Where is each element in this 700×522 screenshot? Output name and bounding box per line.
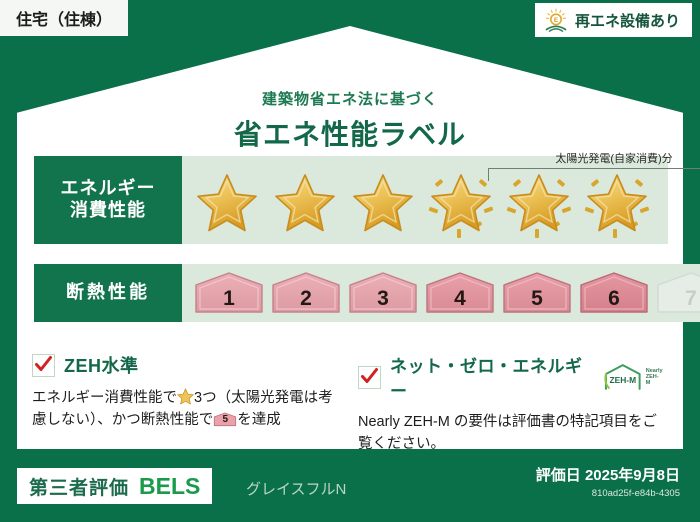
insulation-badge-number: 7	[685, 288, 697, 315]
insulation-badge: 5	[500, 271, 574, 315]
insulation-badge-inline: 5	[213, 411, 237, 428]
insulation-badge-number: 4	[454, 288, 466, 315]
check-icon	[32, 354, 55, 377]
energy-performance-row: エネルギー 消費性能	[34, 156, 668, 244]
zeh-desc-part4: を達成	[237, 412, 281, 428]
third-party-label: 第三者評価	[29, 473, 129, 500]
zeh-standard-header: ZEH水準	[32, 352, 342, 378]
insulation-badge-number: 5	[531, 288, 543, 315]
evaluation-id: 810ad25f-e84b-4305	[536, 488, 680, 499]
evaluation-info: 評価日 2025年9月8日 810ad25f-e84b-4305	[536, 464, 680, 499]
zeh-m-sub-line2: ZEH-M	[646, 374, 659, 386]
star-cell-solar	[422, 163, 500, 243]
star-icon	[274, 172, 336, 234]
zeh-m-logo: ZEH-M Nearly ZEH-M	[602, 363, 663, 391]
net-zero-energy-header: ネット・ゼロ・エネルギー ZEH-M Nearly ZEH-M	[358, 352, 663, 402]
star-icon	[177, 388, 194, 405]
star-cell	[266, 163, 344, 243]
building-type-label: 住宅（住棟）	[16, 6, 112, 30]
zeh-m-sub-line1: Nearly	[646, 368, 663, 374]
label-main-title: 省エネ性能ラベル	[0, 113, 700, 153]
star-cell-solar	[500, 163, 578, 243]
star-icon	[352, 172, 414, 234]
star-rating	[188, 163, 656, 243]
insulation-badge: 4	[423, 271, 497, 315]
insulation-badge-number: 1	[223, 288, 235, 315]
zeh-standard-title: ZEH水準	[64, 352, 139, 378]
energy-performance-label: エネルギー 消費性能	[34, 156, 182, 244]
star-icon	[586, 172, 648, 234]
insulation-badges-area: 1 2 3	[182, 264, 700, 322]
bels-certification-box: 第三者評価 BELS	[17, 468, 212, 504]
insulation-performance-label: 断熱性能	[34, 264, 182, 322]
renewable-energy-label: 再エネ設備あり	[575, 10, 680, 31]
net-zero-energy-title: ネット・ゼロ・エネルギー	[390, 352, 590, 402]
renewable-energy-tag: E 再エネ設備あり	[535, 3, 692, 37]
insulation-badge-number: 6	[608, 288, 620, 315]
zeh-desc-part2: 3つ（太陽光発電	[194, 390, 304, 406]
star-icon	[430, 172, 492, 234]
star-cell	[188, 163, 266, 243]
project-name: グレイスフルN	[246, 478, 346, 499]
check-icon	[358, 366, 381, 389]
insulation-badge: 2	[269, 271, 343, 315]
insulation-badge: 1	[192, 271, 266, 315]
label-subtitle: 建築物省エネ法に基づく	[0, 88, 700, 109]
evaluation-date-label: 評価日	[536, 467, 581, 484]
svg-text:ZEH-M: ZEH-M	[610, 375, 637, 385]
net-zero-energy-description: Nearly ZEH-M の要件は評価書の特記項目をご覧ください。	[358, 411, 663, 456]
evaluation-date-value: 2025年9月8日	[585, 467, 680, 484]
zeh-desc-part1: エネルギー消費性能で	[32, 390, 177, 406]
star-cell-solar	[578, 163, 656, 243]
solar-sun-icon: E	[543, 8, 569, 32]
insulation-badge: 3	[346, 271, 420, 315]
footer-bar: 第三者評価 BELS グレイスフルN 評価日 2025年9月8日 810ad25…	[0, 456, 700, 522]
insulation-grade-scale: 1 2 3	[192, 271, 700, 315]
insulation-badge-inline-number: 5	[213, 412, 237, 428]
bels-logo-text: BELS	[139, 473, 200, 500]
star-icon	[196, 172, 258, 234]
building-type-tag: 住宅（住棟）	[0, 0, 128, 36]
zeh-m-logo-subtext: Nearly ZEH-M	[646, 368, 663, 387]
insulation-badge-number: 2	[300, 288, 312, 315]
svg-text:E: E	[554, 17, 559, 24]
insulation-badge-inactive: 7	[654, 271, 700, 315]
star-icon	[508, 172, 570, 234]
energy-stars-area: 太陽光発電(自家消費)分	[182, 156, 668, 244]
evaluation-date: 評価日 2025年9月8日	[536, 464, 680, 485]
net-zero-energy-block: ネット・ゼロ・エネルギー ZEH-M Nearly ZEH-M Nearly Z…	[358, 352, 663, 456]
insulation-badge: 6	[577, 271, 651, 315]
zeh-standard-description: エネルギー消費性能で3つ（太陽光発電は考慮しない）、かつ断熱性能で5を達成	[32, 387, 342, 432]
star-cell	[344, 163, 422, 243]
label-title-group: 建築物省エネ法に基づく 省エネ性能ラベル	[0, 88, 700, 153]
insulation-badge-number: 3	[377, 288, 389, 315]
zeh-standard-block: ZEH水準 エネルギー消費性能で3つ（太陽光発電は考慮しない）、かつ断熱性能で5…	[32, 352, 342, 432]
insulation-performance-row: 断熱性能 1 2	[34, 264, 668, 322]
